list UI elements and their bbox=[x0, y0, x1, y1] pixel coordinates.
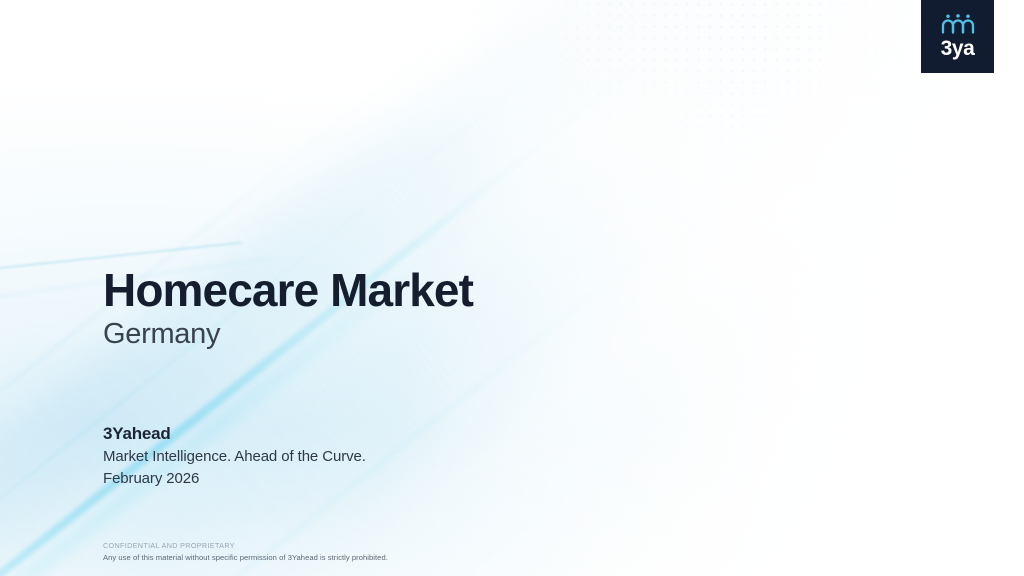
company-name: 3Yahead bbox=[103, 423, 366, 446]
three-people-group-icon bbox=[941, 14, 975, 35]
slide-content: Homecare Market Germany 3Yahead Market I… bbox=[103, 0, 903, 576]
page-subtitle: Germany bbox=[103, 318, 473, 351]
company-tagline: Market Intelligence. Ahead of the Curve. bbox=[103, 446, 366, 468]
title-block: Homecare Market Germany bbox=[103, 266, 473, 351]
title-slide: 3ya Homecare Market Germany 3Yahead Mark… bbox=[0, 0, 1024, 576]
page-title: Homecare Market bbox=[103, 266, 473, 316]
brand-logo-tile[interactable]: 3ya bbox=[921, 0, 994, 73]
usage-restriction-text: Any use of this material without specifi… bbox=[103, 552, 388, 563]
publication-date: February 2026 bbox=[103, 468, 366, 490]
footer-disclaimer: CONFIDENTIAL AND PROPRIETARY Any use of … bbox=[103, 541, 388, 563]
brand-wordmark: 3ya bbox=[941, 38, 975, 59]
author-meta-block: 3Yahead Market Intelligence. Ahead of th… bbox=[103, 423, 366, 489]
confidentiality-label: CONFIDENTIAL AND PROPRIETARY bbox=[103, 541, 388, 552]
